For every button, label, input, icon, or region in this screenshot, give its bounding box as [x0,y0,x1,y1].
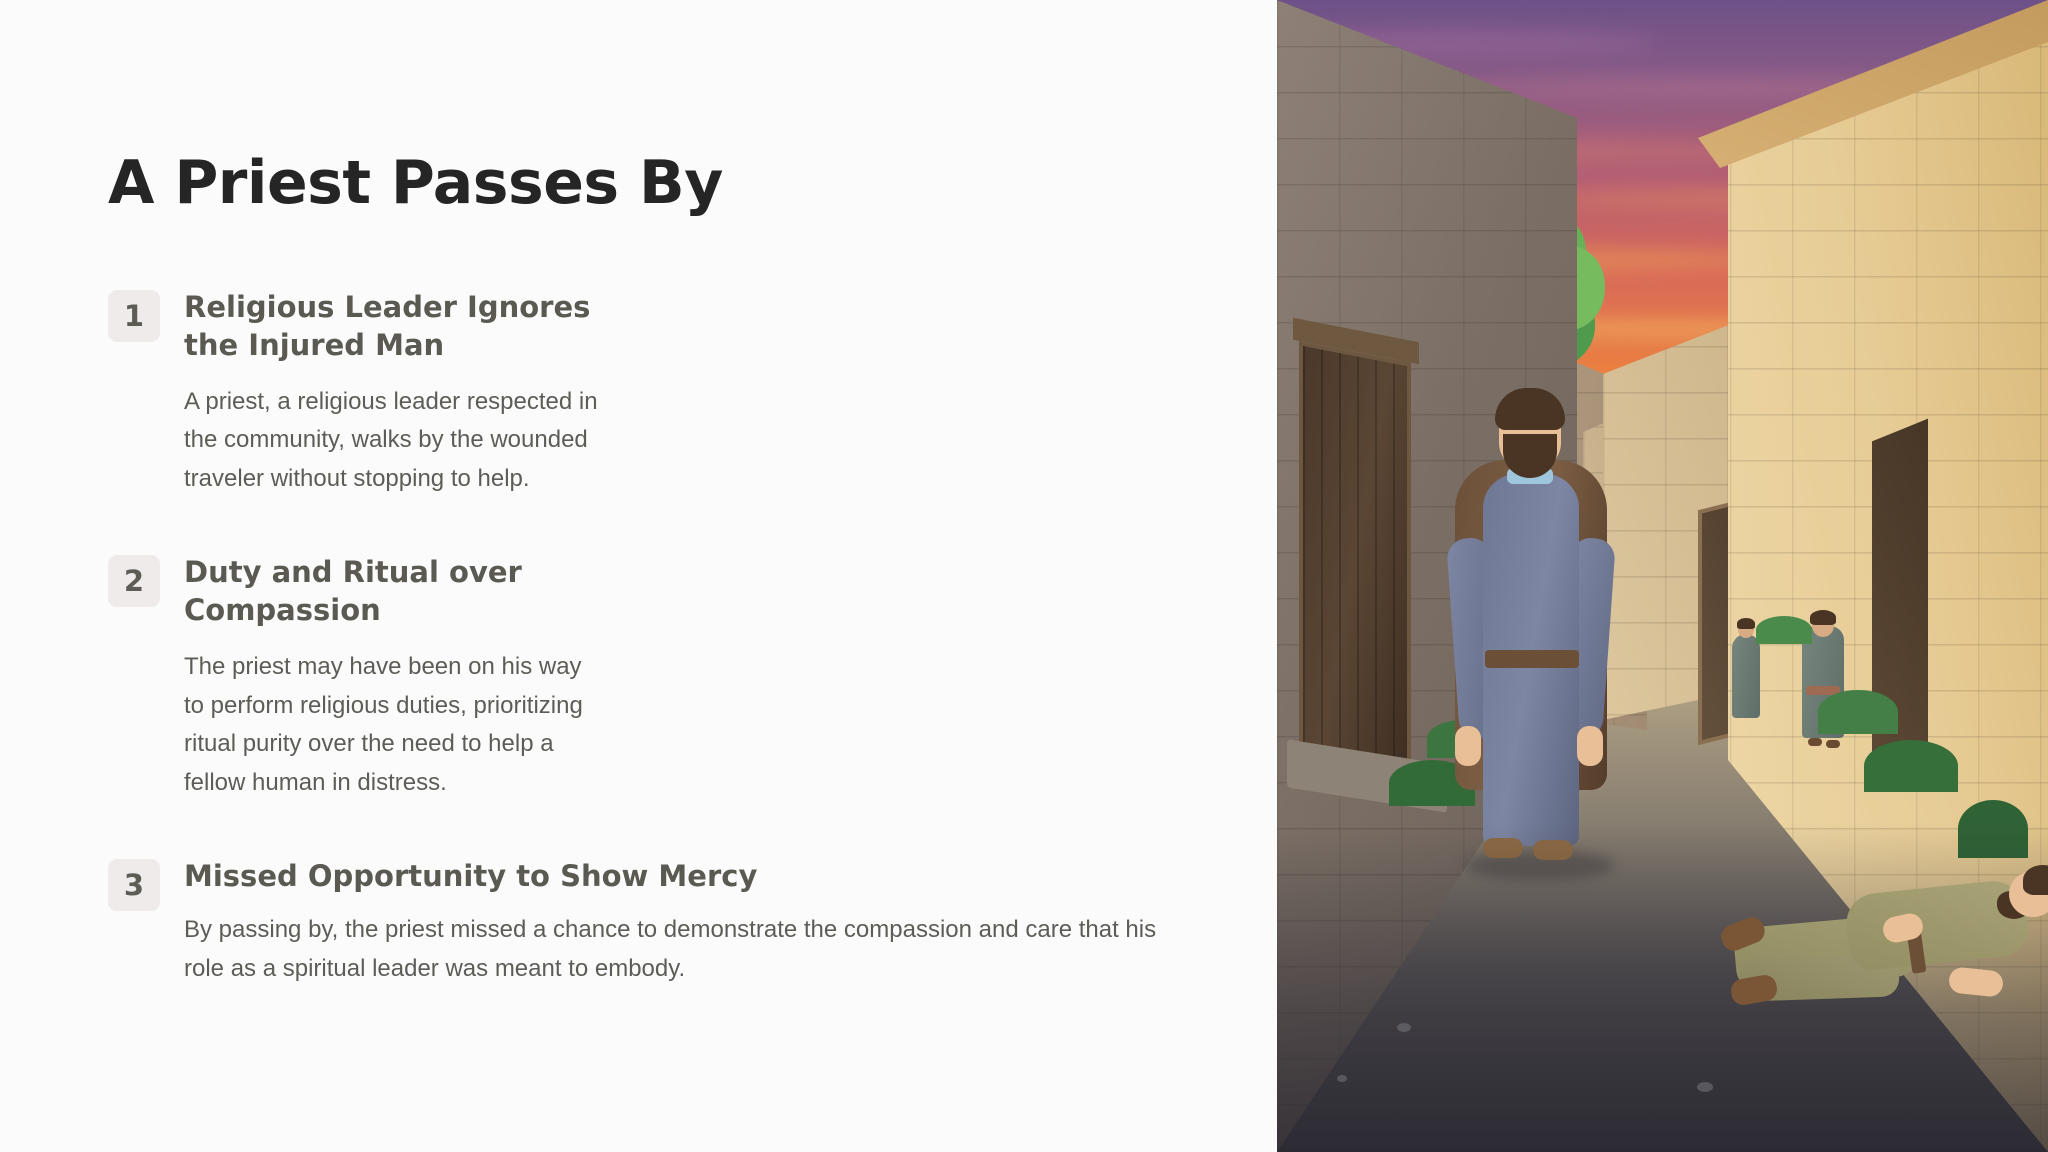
point-number-badge-1: 1 [108,290,160,342]
priest-hand-right [1577,726,1603,766]
point-body-2: Duty and Ritual over Compassion The prie… [184,553,608,803]
road-pebble [1697,1082,1713,1092]
villager-hair [1737,618,1755,629]
point-heading-1: Religious Leader Ignores the Injured Man [184,288,608,365]
grass-tuft [1818,690,1898,734]
point-number-badge-2: 2 [108,555,160,607]
road-pebble [1397,1023,1411,1032]
content-panel: A Priest Passes By 1 Religious Leader Ig… [0,0,1277,1152]
villager-robe [1732,634,1760,718]
point-heading-3: Missed Opportunity to Show Mercy [184,857,1167,895]
point-body-3: Missed Opportunity to Show Mercy By pass… [184,857,1167,989]
point-item-2: 2 Duty and Ritual over Compassion The pr… [108,553,608,803]
left-wooden-door [1299,341,1411,783]
injured-man-arm-lower [1948,966,2004,998]
villager-sandal [1826,740,1840,748]
priest-belt [1485,650,1579,668]
point-text-2: The priest may have been on his way to p… [184,648,608,804]
point-item-3: 3 Missed Opportunity to Show Mercy By pa… [108,857,1167,989]
priest-hand-left [1455,726,1481,766]
injured-man-sandal-right [1729,973,1779,1007]
point-heading-2: Duty and Ritual over Compassion [184,553,608,630]
injured-man-hair [2023,865,2048,895]
grass-tuft [1864,740,1958,792]
point-text-3: By passing by, the priest missed a chanc… [184,911,1167,989]
road-pebble [1337,1075,1347,1082]
page-title: A Priest Passes By [108,150,1167,216]
grass-tuft [1756,616,1812,644]
illustration-panel [1277,0,2048,1152]
villager-hair [1810,610,1836,625]
slide-root: A Priest Passes By 1 Religious Leader Ig… [0,0,2048,1152]
point-item-1: 1 Religious Leader Ignores the Injured M… [108,288,608,499]
points-grid: 1 Religious Leader Ignores the Injured M… [108,288,1167,989]
priest-hair [1495,388,1565,430]
point-number-badge-3: 3 [108,859,160,911]
point-text-1: A priest, a religious leader respected i… [184,383,608,500]
villager-sandal [1808,738,1822,746]
injured-man-figure [1687,845,2048,1065]
priest-figure [1445,388,1617,868]
point-body-1: Religious Leader Ignores the Injured Man… [184,288,608,499]
